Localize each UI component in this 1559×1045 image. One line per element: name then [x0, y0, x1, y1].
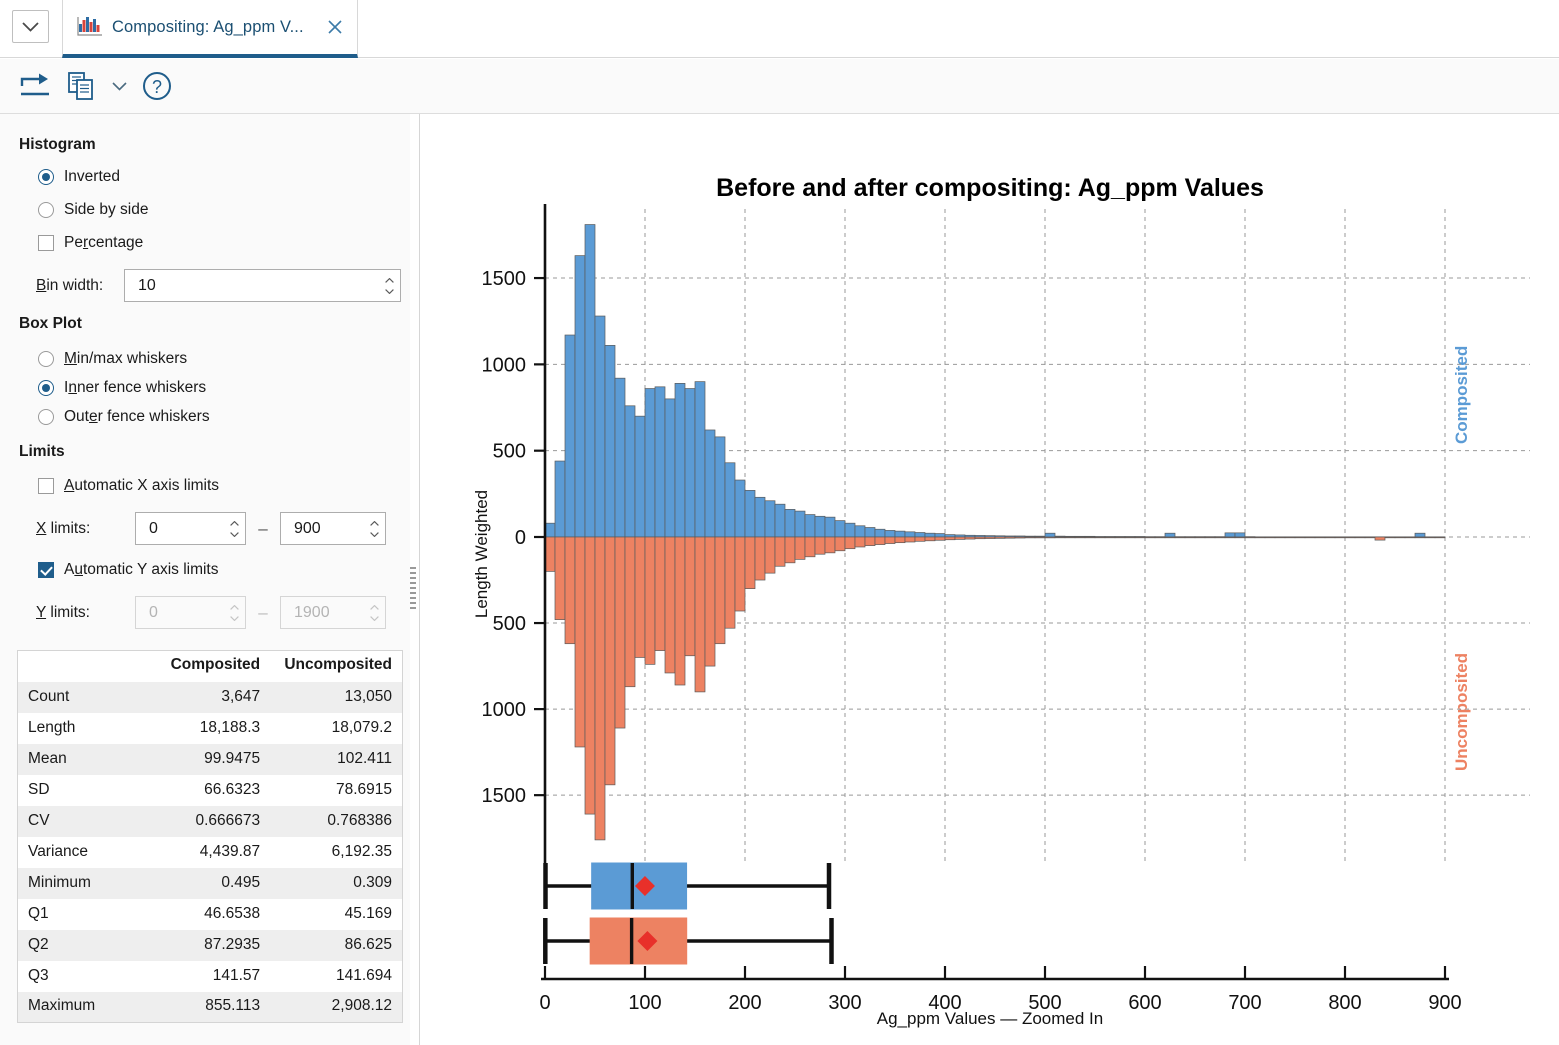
histogram-bar — [785, 537, 795, 563]
histogram-bar — [1125, 537, 1135, 538]
histogram-bar — [1065, 537, 1075, 538]
table-row: Q146.653845.169 — [18, 899, 403, 930]
pane-splitter-grip[interactable] — [408, 565, 418, 611]
histogram-bar — [1165, 533, 1175, 537]
checkbox-percentage[interactable]: Percentage — [38, 234, 143, 252]
histogram-bar — [935, 534, 945, 537]
caret-up-icon — [385, 278, 394, 283]
histogram-bar — [1285, 537, 1295, 538]
histogram-bar — [925, 537, 935, 541]
histogram-bar — [1255, 537, 1265, 538]
stat-name: Variance — [18, 837, 136, 868]
stat-composited-value: 855.113 — [136, 992, 270, 1023]
histogram-bars — [545, 225, 1445, 840]
radio-inverted[interactable]: Inverted — [38, 168, 120, 186]
histogram-bar — [655, 387, 665, 537]
histogram-bar — [1175, 537, 1185, 538]
statistics-table: Composited Uncomposited Count3,64713,050… — [17, 650, 403, 1023]
histogram-bar — [1075, 537, 1085, 538]
stat-name: Minimum — [18, 868, 136, 899]
uncomposited-header: Uncomposited — [270, 651, 402, 682]
bin-width-row: Bin width: 10 — [36, 269, 401, 302]
x-limits-max-input[interactable]: 900 — [280, 512, 386, 545]
stat-name: Count — [18, 682, 136, 713]
x-limits-max-value: 900 — [281, 520, 363, 538]
stat-name: SD — [18, 775, 136, 806]
close-icon[interactable] — [325, 17, 345, 37]
histogram-bar — [755, 537, 765, 580]
caret-down-icon — [230, 532, 239, 537]
histogram-bar — [685, 389, 695, 537]
copy-icon — [66, 71, 96, 101]
bin-width-input[interactable]: 10 — [124, 269, 401, 302]
histogram-bar — [735, 480, 745, 537]
caret-down-icon — [385, 289, 394, 294]
table-row: Variance4,439.876,192.35 — [18, 837, 403, 868]
y-tick-label: 1000 — [482, 699, 527, 721]
histogram-bar — [745, 537, 755, 589]
y-limits-max-value: 1900 — [281, 604, 363, 622]
histogram-bar — [595, 316, 605, 537]
histogram-bar — [705, 537, 715, 666]
histogram-bar — [715, 537, 725, 644]
histogram-bar — [635, 537, 645, 657]
radio-inverted-label: Inverted — [64, 168, 120, 186]
histogram-bar — [675, 383, 685, 537]
radio-minmax-whiskers[interactable]: Min/max whiskers — [38, 350, 187, 368]
y-limits-max-input: 1900 — [280, 596, 386, 629]
histogram-bar — [795, 511, 805, 537]
table-row: Count3,64713,050 — [18, 682, 403, 713]
stat-uncomposited-value: 18,079.2 — [270, 713, 402, 744]
histogram-bar — [1165, 537, 1175, 538]
panel-menu-button[interactable] — [12, 10, 49, 43]
table-row: Length18,188.318,079.2 — [18, 713, 403, 744]
x-limits-row: X limits: 0 – 900 — [36, 512, 386, 545]
y-limits-min-value: 0 — [136, 604, 223, 622]
bin-width-label: Bin width: — [36, 277, 124, 295]
x-limits-min-stepper[interactable] — [223, 513, 245, 544]
histogram-bar — [595, 537, 605, 840]
composited-header: Composited — [136, 651, 270, 682]
stat-uncomposited-value: 0.768386 — [270, 806, 402, 837]
checkbox-automatic-x-axis-limits-indicator[interactable] — [38, 478, 54, 494]
histogram-bar — [1265, 537, 1275, 538]
histogram-bar — [915, 533, 925, 537]
y-tick-label: 1000 — [482, 354, 527, 376]
stat-composited-value: 46.6538 — [136, 899, 270, 930]
x-tick-label: 800 — [1328, 992, 1361, 1014]
histogram-bar — [945, 537, 955, 540]
x-limits-label: X limits: — [36, 520, 135, 538]
stat-uncomposited-value: 86.625 — [270, 930, 402, 961]
histogram-bar — [1415, 533, 1425, 537]
histogram-bar — [545, 523, 555, 537]
x-tick-label: 200 — [728, 992, 761, 1014]
stat-uncomposited-value: 2,908.12 — [270, 992, 402, 1023]
radio-side-by-side-label: Side by side — [64, 201, 148, 219]
x-tick-label: 0 — [539, 992, 550, 1014]
radio-minmax-whiskers-label: Min/max whiskers — [64, 350, 187, 368]
checkbox-automatic-x-axis-limits[interactable]: Automatic X axis limits — [38, 477, 219, 495]
export-icon — [19, 71, 51, 101]
histogram-bar — [1435, 537, 1445, 538]
histogram-bar — [725, 463, 735, 537]
tab-strip: Compositing: Ag_ppm V... — [0, 0, 1559, 58]
histogram-bar — [1045, 533, 1055, 537]
histogram-bar — [855, 537, 865, 547]
histogram-bar — [1145, 537, 1155, 538]
histogram-bar — [1355, 537, 1365, 538]
histogram-bar — [875, 537, 885, 545]
y-limits-label: Y limits: — [36, 604, 135, 622]
histogram-bar — [765, 501, 775, 537]
histogram-bar — [965, 537, 975, 539]
table-row: Minimum0.4950.309 — [18, 868, 403, 899]
x-tick-label: 100 — [628, 992, 661, 1014]
histogram-bar — [835, 537, 845, 551]
stat-uncomposited-value: 13,050 — [270, 682, 402, 713]
histogram-bar — [715, 437, 725, 537]
histogram-bar — [905, 537, 915, 542]
stat-composited-value: 141.57 — [136, 961, 270, 992]
histogram-bar — [835, 521, 845, 537]
histogram-bar — [895, 537, 905, 543]
y-limits-max-stepper — [363, 597, 385, 628]
histogram-bar — [1315, 537, 1325, 538]
histogram-bar — [585, 225, 595, 537]
histogram-bar — [1395, 537, 1405, 538]
stat-composited-value: 99.9475 — [136, 744, 270, 775]
x-tick-label: 500 — [1028, 992, 1061, 1014]
histogram-bar — [1195, 537, 1205, 538]
histogram-bar — [1295, 537, 1305, 538]
histogram-bar — [695, 537, 705, 692]
radio-inner-fence-whiskers-label: Inner fence whiskers — [64, 379, 206, 397]
histogram-bar — [565, 335, 575, 537]
stat-uncomposited-value: 102.411 — [270, 744, 402, 775]
histogram-bar — [665, 399, 675, 537]
y-tick-label: 0 — [515, 527, 526, 549]
caret-up-icon — [370, 521, 379, 526]
histogram-bar — [1005, 537, 1015, 538]
histogram-bar — [805, 537, 815, 557]
histogram-bar — [845, 523, 855, 537]
stat-uncomposited-value: 78.6915 — [270, 775, 402, 806]
checkbox-automatic-y-axis-limits[interactable]: Automatic Y axis limits — [38, 561, 219, 579]
histogram-bar — [1155, 537, 1165, 538]
histogram-bar — [625, 537, 635, 687]
histogram-bar — [985, 537, 995, 539]
histogram-bar — [1405, 537, 1415, 538]
tab-label: Compositing: Ag_ppm V... — [112, 18, 316, 37]
y-tick-label: 500 — [493, 613, 526, 635]
checkbox-percentage-label: Percentage — [64, 234, 143, 252]
radio-side-by-side[interactable]: Side by side — [38, 201, 148, 219]
histogram-bar — [655, 537, 665, 651]
histogram-group-title: Histogram — [19, 136, 96, 154]
histogram-bar — [845, 537, 855, 549]
tab-compositing[interactable]: Compositing: Ag_ppm V... — [62, 0, 358, 58]
histogram-bar — [555, 461, 565, 537]
histogram-bar — [935, 537, 945, 540]
histogram-boxplot-figure: 1500100050005001000150001002003004005006… — [420, 114, 1559, 1045]
histogram-bar — [1205, 537, 1215, 538]
stat-name: Maximum — [18, 992, 136, 1023]
histogram-bar — [1185, 537, 1195, 538]
histogram-bar — [825, 517, 835, 537]
histogram-bar — [1135, 537, 1145, 538]
box-plots — [545, 863, 831, 964]
stat-uncomposited-value: 0.309 — [270, 868, 402, 899]
stat-name: CV — [18, 806, 136, 837]
histogram-bar — [725, 537, 735, 628]
stat-name: Q3 — [18, 961, 136, 992]
boxplot-group-title: Box Plot — [19, 315, 82, 333]
histogram-bar — [605, 537, 615, 785]
x-limits-max-stepper[interactable] — [363, 513, 385, 544]
x-tick-label: 300 — [828, 992, 861, 1014]
histogram-bar — [1115, 537, 1125, 538]
histogram-bar — [605, 345, 615, 537]
x-tick-label: 400 — [928, 992, 961, 1014]
histogram-bar — [1025, 537, 1035, 538]
y-limits-separator: – — [246, 603, 280, 623]
histogram-bar — [765, 537, 775, 573]
histogram-bar — [1385, 537, 1395, 538]
histogram-bar — [875, 529, 885, 537]
histogram-bar — [1425, 537, 1435, 538]
histogram-bar — [975, 537, 985, 539]
histogram-bar — [1035, 537, 1045, 538]
stat-composited-value: 4,439.87 — [136, 837, 270, 868]
histogram-bar — [545, 537, 555, 571]
histogram-bar — [1055, 537, 1065, 538]
bin-width-stepper[interactable] — [378, 270, 400, 301]
caret-up-icon — [230, 605, 239, 610]
histogram-bar — [745, 490, 755, 537]
histogram-bar — [855, 526, 865, 537]
radio-outer-fence-whiskers[interactable]: Outer fence whiskers — [38, 408, 210, 426]
histogram-icon — [77, 16, 103, 38]
histogram-bar — [695, 382, 705, 537]
histogram-bar — [755, 497, 765, 537]
stat-composited-value: 18,188.3 — [136, 713, 270, 744]
toolbar: ? — [0, 59, 1559, 114]
histogram-bar — [1225, 537, 1235, 538]
histogram-bar — [635, 416, 645, 537]
histogram-bar — [1415, 537, 1425, 538]
caret-down-icon — [370, 616, 379, 621]
caret-up-icon — [370, 605, 379, 610]
chevron-down-icon — [22, 22, 39, 32]
histogram-bar — [685, 537, 695, 656]
y-limits-row: Y limits: 0 – 1900 — [36, 596, 386, 629]
histogram-bar — [1275, 537, 1285, 538]
x-tick-label: 900 — [1428, 992, 1461, 1014]
stat-name: Mean — [18, 744, 136, 775]
histogram-bar — [795, 537, 805, 559]
y-tick-label: 1500 — [482, 785, 527, 807]
histogram-bar — [945, 535, 955, 537]
stat-composited-value: 66.6323 — [136, 775, 270, 806]
table-header-row: Composited Uncomposited — [18, 651, 403, 682]
histogram-bar — [955, 537, 965, 539]
table-row: Mean99.9475102.411 — [18, 744, 403, 775]
x-tick-label: 700 — [1228, 992, 1261, 1014]
table-row: CV0.6666730.768386 — [18, 806, 403, 837]
x-limits-min-value: 0 — [136, 520, 223, 538]
histogram-bar — [645, 537, 655, 664]
histogram-bar — [1345, 537, 1355, 538]
bin-width-value: 10 — [125, 277, 378, 295]
caret-down-icon — [230, 616, 239, 621]
caret-up-icon — [230, 521, 239, 526]
stat-name-header — [18, 651, 136, 682]
histogram-bar — [775, 537, 785, 566]
radio-outer-fence-whiskers-label: Outer fence whiskers — [64, 408, 210, 426]
histogram-bar — [825, 537, 835, 553]
histogram-bar — [905, 532, 915, 537]
export-button[interactable] — [14, 65, 56, 107]
histogram-bar — [1015, 537, 1025, 538]
stat-composited-value: 3,647 — [136, 682, 270, 713]
histogram-bar — [1105, 537, 1115, 538]
histogram-bar — [995, 537, 1005, 538]
histogram-bar — [615, 378, 625, 537]
histogram-bar — [1235, 537, 1245, 538]
stat-uncomposited-value: 45.169 — [270, 899, 402, 930]
histogram-bar — [895, 531, 905, 537]
chevron-down-icon — [112, 82, 127, 91]
x-limits-separator: – — [246, 519, 280, 539]
histogram-bar — [1335, 537, 1345, 538]
copy-dropdown-button[interactable] — [106, 65, 132, 107]
histogram-bar — [665, 537, 675, 673]
histogram-bar — [1305, 537, 1315, 538]
radio-outer-fence-whiskers-indicator[interactable] — [38, 409, 54, 425]
histogram-bar — [615, 537, 625, 728]
stat-name: Q1 — [18, 899, 136, 930]
histogram-bar — [815, 537, 825, 554]
table-row: Q287.293586.625 — [18, 930, 403, 961]
histogram-bar — [575, 256, 585, 537]
checkbox-automatic-y-axis-limits-label: Automatic Y axis limits — [64, 561, 219, 579]
help-button[interactable]: ? — [136, 65, 178, 107]
radio-minmax-whiskers-indicator[interactable] — [38, 351, 54, 367]
table-row: SD66.632378.6915 — [18, 775, 403, 806]
histogram-bar — [555, 537, 565, 620]
histogram-bar — [865, 537, 875, 546]
histogram-bar — [565, 537, 575, 644]
radio-side-by-side-indicator[interactable] — [38, 202, 54, 218]
histogram-bar — [865, 528, 875, 537]
svg-text:?: ? — [152, 77, 162, 97]
radio-inverted-indicator[interactable] — [38, 169, 54, 185]
histogram-bar — [735, 537, 745, 611]
radio-inner-fence-whiskers-indicator[interactable] — [38, 380, 54, 396]
histogram-bar — [1235, 533, 1245, 537]
table-row: Maximum855.1132,908.12 — [18, 992, 403, 1023]
stat-composited-value: 87.2935 — [136, 930, 270, 961]
stat-composited-value: 0.666673 — [136, 806, 270, 837]
histogram-bar — [1365, 537, 1375, 538]
histogram-bar — [1085, 537, 1095, 538]
radio-inner-fence-whiskers[interactable]: Inner fence whiskers — [38, 379, 206, 397]
copy-button[interactable] — [60, 65, 102, 107]
histogram-bar — [815, 516, 825, 537]
table-row: Q3141.57141.694 — [18, 961, 403, 992]
y-tick-label: 1500 — [482, 268, 527, 290]
stat-name: Length — [18, 713, 136, 744]
y-limits-min-stepper — [223, 597, 245, 628]
stat-composited-value: 0.495 — [136, 868, 270, 899]
histogram-bar — [785, 509, 795, 537]
caret-down-icon — [370, 532, 379, 537]
stat-name: Q2 — [18, 930, 136, 961]
stat-uncomposited-value: 141.694 — [270, 961, 402, 992]
x-limits-min-input[interactable]: 0 — [135, 512, 246, 545]
histogram-bar — [1215, 537, 1225, 538]
histogram-bar — [1375, 537, 1385, 540]
histogram-bar — [625, 406, 635, 537]
checkbox-automatic-y-axis-limits-indicator[interactable] — [38, 562, 54, 578]
help-icon: ? — [141, 70, 173, 102]
histogram-bar — [775, 504, 785, 537]
histogram-bar — [915, 537, 925, 541]
histogram-bar — [645, 389, 655, 537]
chart-pane: Before and after compositing: Ag_ppm Val… — [419, 114, 1559, 1045]
histogram-bar — [1225, 533, 1235, 537]
histogram-bar — [925, 533, 935, 537]
histogram-bar — [885, 537, 895, 544]
checkbox-automatic-x-axis-limits-label: Automatic X axis limits — [64, 477, 219, 495]
histogram-bar — [585, 537, 595, 814]
limits-group-title: Limits — [19, 443, 65, 461]
histogram-bar — [1045, 537, 1055, 538]
histogram-bar — [1095, 537, 1105, 538]
y-limits-min-input: 0 — [135, 596, 246, 629]
x-tick-label: 600 — [1128, 992, 1161, 1014]
histogram-bar — [885, 530, 895, 537]
histogram-bar — [805, 515, 815, 537]
stat-uncomposited-value: 6,192.35 — [270, 837, 402, 868]
histogram-bar — [575, 537, 585, 747]
histogram-bar — [675, 537, 685, 685]
histogram-bar — [1325, 537, 1335, 538]
y-tick-label: 500 — [493, 441, 526, 463]
checkbox-percentage-indicator[interactable] — [38, 235, 54, 251]
histogram-bar — [705, 430, 715, 537]
histogram-bar — [1245, 537, 1255, 538]
